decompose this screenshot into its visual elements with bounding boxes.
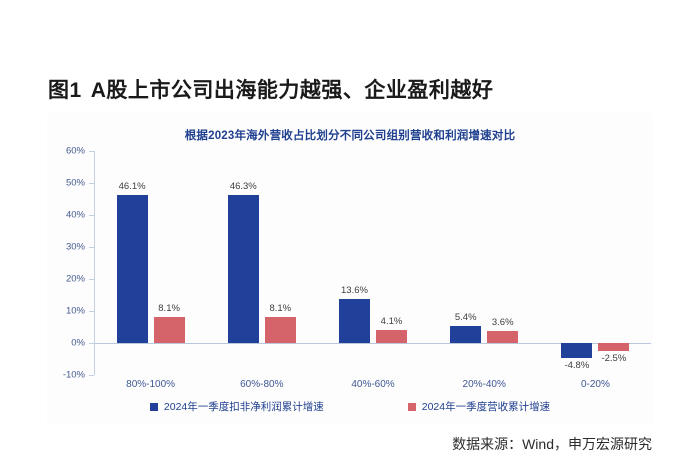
bar[interactable] <box>117 195 148 343</box>
x-tick-label: 80%-100% <box>126 379 175 390</box>
bar[interactable] <box>376 330 407 343</box>
y-tick-label: 20% <box>66 274 85 285</box>
bar-value-label: 13.6% <box>332 285 376 296</box>
x-axis: 80%-100%60%-80%40%-60%20%-40%0-20% <box>95 379 651 399</box>
bar[interactable] <box>450 326 481 343</box>
y-tick-mark <box>89 311 94 312</box>
y-tick-mark <box>89 343 94 344</box>
legend-item[interactable]: 2024年一季度营收累计增速 <box>408 399 550 414</box>
chart-card: 根据2023年海外营收占比划分不同公司组别营收和利润增速对比 60%50%40%… <box>47 113 653 424</box>
y-tick-mark <box>89 183 94 184</box>
legend-item[interactable]: 2024年一季度扣非净利润累计增速 <box>150 399 324 414</box>
y-tick-mark <box>89 375 94 376</box>
bar[interactable] <box>265 317 296 343</box>
y-tick-label: 50% <box>66 178 85 189</box>
chart-legend: 2024年一季度扣非净利润累计增速2024年一季度营收累计增速 <box>47 399 653 414</box>
y-tick-mark <box>89 247 94 248</box>
legend-label: 2024年一季度扣非净利润累计增速 <box>164 399 324 414</box>
bar-value-label: -2.5% <box>592 353 636 364</box>
y-tick-label: -10% <box>63 370 85 381</box>
bar-group: 13.6%4.1% <box>317 151 428 375</box>
bar-value-label: 3.6% <box>481 317 525 328</box>
y-tick-mark <box>89 215 94 216</box>
x-tick-label: 0-20% <box>581 379 610 390</box>
legend-label: 2024年一季度营收累计增速 <box>422 399 550 414</box>
y-tick-mark <box>89 279 94 280</box>
figure-number: 图1 <box>48 79 82 102</box>
y-tick-label: 40% <box>66 210 85 221</box>
plot-wrapper: 60%50%40%30%20%10%0%-10% 46.1%8.1%46.3%8… <box>47 151 653 389</box>
bar-value-label: 46.3% <box>221 181 265 192</box>
bar[interactable] <box>487 331 518 343</box>
y-tick-label: 10% <box>66 306 85 317</box>
bar-group: 46.3%8.1% <box>206 151 317 375</box>
bar-group: 5.4%3.6% <box>429 151 540 375</box>
bar-group: 46.1%8.1% <box>95 151 206 375</box>
bar[interactable] <box>228 195 259 343</box>
y-axis: 60%50%40%30%20%10%0%-10% <box>47 151 91 375</box>
bar-value-label: 8.1% <box>147 303 191 314</box>
bar-value-label: 4.1% <box>369 316 413 327</box>
bar[interactable] <box>598 343 629 351</box>
legend-swatch-icon <box>150 403 158 411</box>
bar-value-label: 46.1% <box>110 181 154 192</box>
y-tick-label: 0% <box>71 338 85 349</box>
y-tick-label: 60% <box>66 146 85 157</box>
figure-title: 图1A股上市公司出海能力越强、企业盈利越好 <box>48 74 493 104</box>
bar[interactable] <box>339 299 370 343</box>
legend-swatch-icon <box>408 403 416 411</box>
y-tick-label: 30% <box>66 242 85 253</box>
x-tick-label: 20%-40% <box>463 379 506 390</box>
figure-title-text: A股上市公司出海能力越强、企业盈利越好 <box>91 79 494 102</box>
y-tick-mark <box>89 151 94 152</box>
x-tick-label: 60%-80% <box>240 379 283 390</box>
bar[interactable] <box>561 343 592 358</box>
bar[interactable] <box>154 317 185 343</box>
bar-value-label: 8.1% <box>258 303 302 314</box>
x-tick-label: 40%-60% <box>351 379 394 390</box>
chart-subtitle: 根据2023年海外营收占比划分不同公司组别营收和利润增速对比 <box>47 127 653 143</box>
source-note: 数据来源：Wind，申万宏源研究 <box>452 434 652 454</box>
plot-area: 46.1%8.1%46.3%8.1%13.6%4.1%5.4%3.6%-4.8%… <box>95 151 651 375</box>
bar-group: -4.8%-2.5% <box>540 151 651 375</box>
